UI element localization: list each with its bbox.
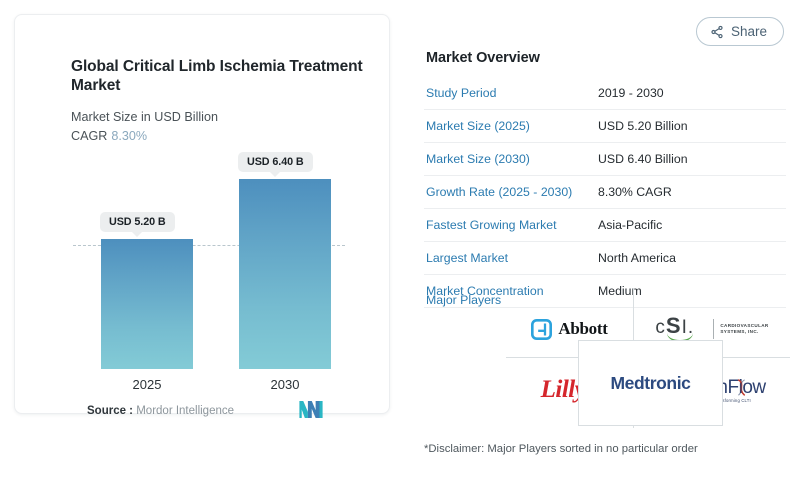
limflow-swirl-icon [735, 379, 748, 396]
row-key: Growth Rate (2025 - 2030) [424, 176, 596, 209]
bar-2030[interactable] [239, 179, 331, 369]
chart-source-name: Mordor Intelligence [136, 405, 234, 417]
market-overview-table: Study Period 2019 - 2030 Market Size (20… [424, 77, 786, 308]
table-row: Market Size (2030) USD 6.40 Billion [424, 143, 786, 176]
share-icon [710, 25, 724, 39]
chart-source: Source : Mordor Intelligence [87, 405, 234, 417]
share-button-label: Share [731, 24, 767, 39]
major-players-title: Major Players [426, 293, 501, 307]
csi-subtext: CARDIOVASCULAR SYSTEMS, INC. [720, 323, 768, 336]
major-players-disclaimer: *Disclaimer: Major Players sorted in no … [424, 443, 698, 455]
chart-card: Global Critical Limb Ischemia Treatment … [14, 14, 390, 414]
row-value: Asia-Pacific [596, 209, 786, 242]
medtronic-wordmark: Medtronic [610, 373, 690, 394]
row-key: Market Size (2025) [424, 110, 596, 143]
csi-divider [713, 319, 714, 339]
bar-group-2025: USD 5.20 B [101, 239, 193, 369]
share-button[interactable]: Share [696, 17, 784, 46]
bar-label-2030: USD 6.40 B [238, 152, 313, 172]
bar-label-2025: USD 5.20 B [100, 212, 175, 232]
x-tick-2025: 2025 [101, 377, 193, 392]
market-overview-panel: Market Overview Study Period 2019 - 2030… [424, 50, 786, 308]
table-row: Fastest Growing Market Asia-Pacific [424, 209, 786, 242]
row-value: North America [596, 242, 786, 275]
row-key: Largest Market [424, 242, 596, 275]
market-snapshot-page: Share Global Critical Limb Ischemia Trea… [0, 0, 800, 482]
row-value: 2019 - 2030 [596, 77, 786, 110]
market-overview-title: Market Overview [426, 50, 786, 66]
x-tick-2030: 2030 [239, 377, 331, 392]
logo-medtronic: Medtronic [578, 340, 723, 426]
csi-mark-icon: cSI. [655, 316, 707, 342]
table-row: Market Size (2025) USD 5.20 Billion [424, 110, 786, 143]
table-row: Study Period 2019 - 2030 [424, 77, 786, 110]
row-value: USD 5.20 Billion [596, 110, 786, 143]
abbott-wordmark: Abbott [558, 319, 607, 339]
bar-group-2030: USD 6.40 B [239, 179, 331, 369]
csi-lockup: cSI. CARDIOVASCULAR SYSTEMS, INC. [655, 316, 768, 342]
bar-chart-plot: USD 5.20 B 2025 USD 6.40 B 2030 [15, 15, 389, 413]
csi-subtext-line2: SYSTEMS, INC. [720, 329, 768, 336]
chart-source-label: Source : [87, 405, 133, 417]
row-value: 8.30% CAGR [596, 176, 786, 209]
row-key: Fastest Growing Market [424, 209, 596, 242]
mordor-intelligence-logo [299, 401, 323, 418]
row-value: USD 6.40 Billion [596, 143, 786, 176]
major-players-logo-grid: Abbott cSI. CARDIOVASCULAR SYSTEMS, INC.… [506, 288, 790, 428]
table-row: Growth Rate (2025 - 2030) 8.30% CAGR [424, 176, 786, 209]
row-key: Study Period [424, 77, 596, 110]
table-row: Largest Market North America [424, 242, 786, 275]
row-key: Market Size (2030) [424, 143, 596, 176]
bar-2025[interactable] [101, 239, 193, 369]
abbott-mark-icon [531, 319, 552, 340]
